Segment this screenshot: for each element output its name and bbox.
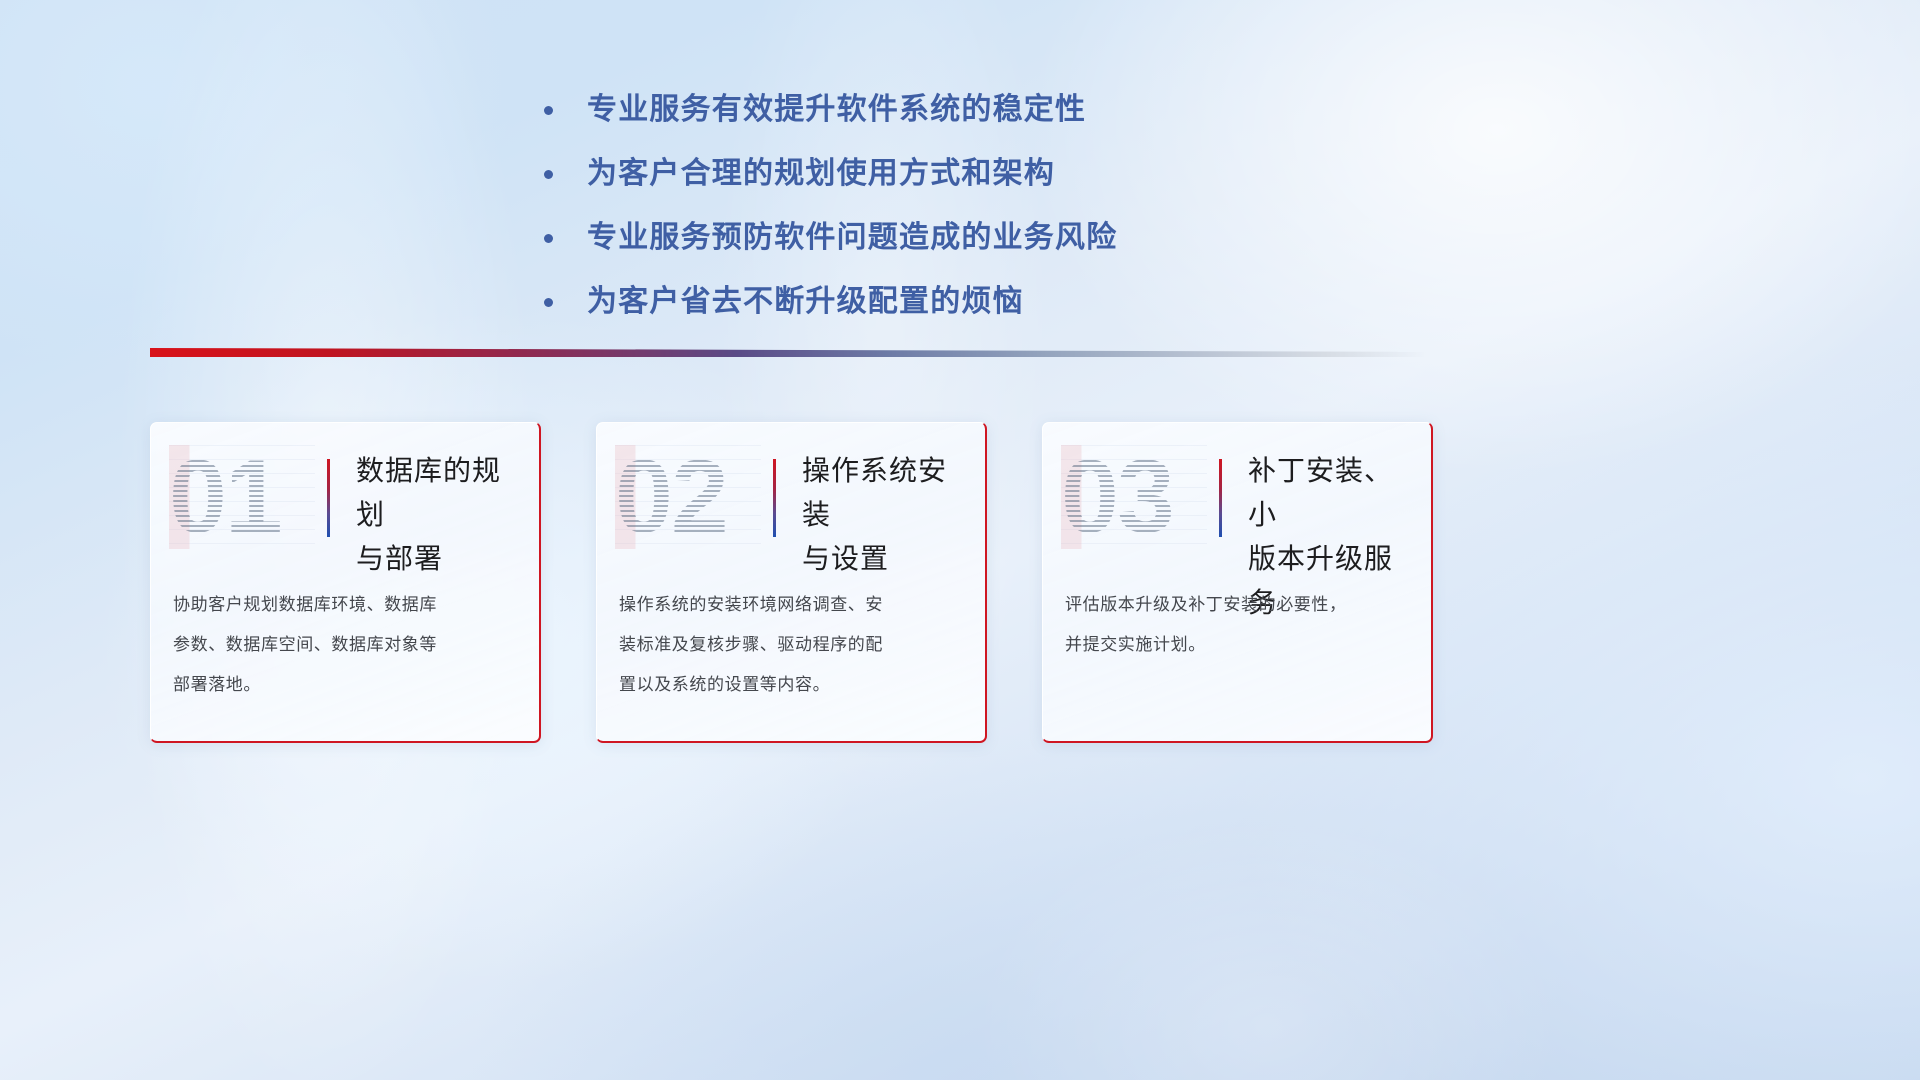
- card-body-line1: 评估版本升级及补丁安装的必要性，: [1065, 585, 1411, 625]
- bullet-text: 专业服务预防软件问题造成的业务风险: [587, 216, 1117, 260]
- bullet-text: 为客户合理的规划使用方式和架构: [587, 152, 1055, 196]
- bullet-dot-icon: [544, 234, 553, 243]
- card-title: 操作系统安装 与设置: [802, 449, 971, 581]
- card-body-line2: 并提交实施计划。: [1065, 625, 1411, 665]
- card-body-line1: 协助客户规划数据库环境、数据库: [173, 585, 519, 625]
- card-title-line1: 补丁安装、小: [1248, 449, 1417, 537]
- service-card[interactable]: 03 补丁安装、小 版本升级服务 评估版本升级及补丁安装的必要性， 并提交实施计…: [1042, 422, 1433, 743]
- card-number-watermark: 03: [1061, 445, 1207, 549]
- benefits-bullet-list: 专业服务有效提升软件系统的稳定性 为客户合理的规划使用方式和架构 专业服务预防软…: [540, 88, 1300, 324]
- card-title-line1: 操作系统安装: [802, 449, 971, 537]
- bullet-dot-icon: [544, 298, 553, 307]
- bullet-text: 为客户省去不断升级配置的烦恼: [587, 280, 1024, 324]
- divider-gradient-bar: [150, 348, 1426, 357]
- title-accent-bar: [773, 459, 776, 537]
- title-accent-bar: [1219, 459, 1222, 537]
- slide-canvas: 专业服务有效提升软件系统的稳定性 为客户合理的规划使用方式和架构 专业服务预防软…: [0, 0, 1920, 1080]
- card-body-line3: 部署落地。: [173, 665, 519, 705]
- card-number-value: 03: [1061, 445, 1173, 549]
- card-body-line3: 置以及系统的设置等内容。: [619, 665, 965, 705]
- card-body-line2: 装标准及复核步骤、驱动程序的配: [619, 625, 965, 665]
- card-title-line2: 与设置: [802, 537, 971, 581]
- list-item: 专业服务有效提升软件系统的稳定性: [540, 88, 1300, 132]
- card-number-watermark: 01: [169, 445, 315, 549]
- list-item: 专业服务预防软件问题造成的业务风险: [540, 216, 1300, 260]
- card-body-text: 协助客户规划数据库环境、数据库 参数、数据库空间、数据库对象等 部署落地。: [173, 585, 519, 705]
- card-title: 数据库的规划 与部署: [356, 449, 525, 581]
- bullet-text: 专业服务有效提升软件系统的稳定性: [587, 88, 1086, 132]
- section-divider: [150, 348, 1426, 357]
- bullet-dot-icon: [544, 170, 553, 179]
- service-card-group: 01 数据库的规划 与部署 协助客户规划数据库环境、数据库 参数、数据库空间、数…: [150, 422, 1430, 742]
- list-item: 为客户省去不断升级配置的烦恼: [540, 280, 1300, 324]
- card-body-text: 操作系统的安装环境网络调查、安 装标准及复核步骤、驱动程序的配 置以及系统的设置…: [619, 585, 965, 705]
- card-title-line2: 与部署: [356, 537, 525, 581]
- card-title-line1: 数据库的规划: [356, 449, 525, 537]
- card-body-line2: 参数、数据库空间、数据库对象等: [173, 625, 519, 665]
- card-body-line1: 操作系统的安装环境网络调查、安: [619, 585, 965, 625]
- card-number-value: 02: [615, 445, 727, 549]
- bullet-dot-icon: [544, 106, 553, 115]
- card-header: 01 数据库的规划 与部署: [151, 423, 539, 573]
- card-number-value: 01: [169, 445, 281, 549]
- title-accent-bar: [327, 459, 330, 537]
- card-header: 03 补丁安装、小 版本升级服务: [1043, 423, 1431, 573]
- service-card[interactable]: 02 操作系统安装 与设置 操作系统的安装环境网络调查、安 装标准及复核步骤、驱…: [596, 422, 987, 743]
- card-body-text: 评估版本升级及补丁安装的必要性， 并提交实施计划。: [1065, 585, 1411, 665]
- card-number-watermark: 02: [615, 445, 761, 549]
- service-card[interactable]: 01 数据库的规划 与部署 协助客户规划数据库环境、数据库 参数、数据库空间、数…: [150, 422, 541, 743]
- list-item: 为客户合理的规划使用方式和架构: [540, 152, 1300, 196]
- card-header: 02 操作系统安装 与设置: [597, 423, 985, 573]
